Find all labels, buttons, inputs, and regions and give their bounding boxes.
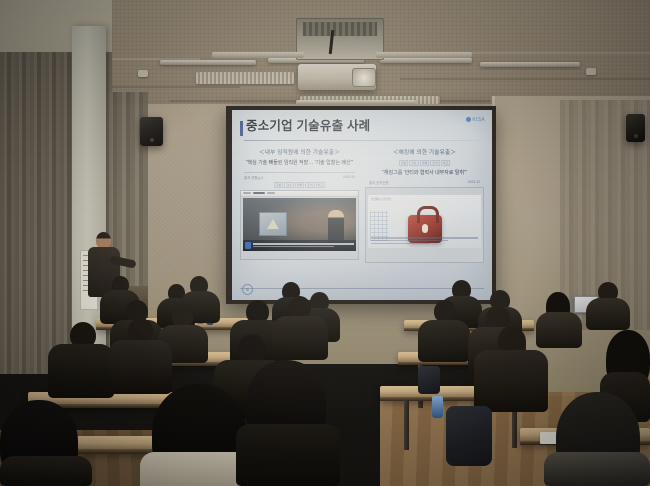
cell: 피해 <box>420 160 430 166</box>
security-lock-graphic: 랜섬웨어 공격 경로 <box>365 187 484 263</box>
logo-text: KISA <box>472 117 485 123</box>
source-label: 출처 전자신문 <box>369 180 389 185</box>
projector-support-arm <box>376 52 472 58</box>
ceiling-seam <box>400 78 650 80</box>
cell: 피해 <box>295 182 305 188</box>
column-quote: "핵심 기술 빼돌린 임직원 적발… '기술 입찰는 배신'" <box>240 158 359 170</box>
footer-divider <box>240 288 484 289</box>
source-label: 출처 연합뉴스 <box>244 175 264 180</box>
projector-lens <box>352 68 376 87</box>
channel-badge <box>245 242 251 249</box>
projection-screen: KISA 중소기업 기술유출 사례 ＜내부 임직원에 의한 기술유출＞ "핵심 … <box>232 110 492 300</box>
slide-title-row: 중소기업 기술유출 사례 <box>240 120 484 136</box>
cell: 비고 <box>316 182 326 188</box>
ceiling-spot-light <box>586 68 596 75</box>
slide-page-number: 6 <box>242 284 253 295</box>
cell: 비고 <box>441 160 451 166</box>
ceiling-air-vent <box>196 72 294 84</box>
lecture-hall-photo: KISA 중소기업 기술유출 사례 ＜내부 임직원에 의한 기술유출＞ "핵심 … <box>0 0 650 486</box>
column-quote: "해킹그룹 '안티와 협력사 내부자료 탈취'" <box>365 168 484 180</box>
presentation-slide: KISA 중소기업 기술유출 사례 ＜내부 임직원에 의한 기술유출＞ "핵심 … <box>232 110 492 300</box>
news-studio-monitor <box>259 212 287 236</box>
ceiling-spot-light <box>138 70 148 77</box>
cell: 건수 <box>409 160 419 166</box>
backpack[interactable] <box>446 406 492 466</box>
column-meta-row: 출처 전자신문 2023.12 <box>365 180 484 185</box>
column-meta-row: 출처 연합뉴스 2023.11 <box>240 175 359 180</box>
right-wall-speaker <box>626 114 645 142</box>
mini-table: 구분 건수 피해 조치 비고 <box>365 160 484 166</box>
graphic-footer-lines <box>371 237 478 245</box>
ceiling-track-light <box>380 58 472 63</box>
organization-logo: KISA <box>466 117 485 123</box>
ceiling-track-light <box>480 62 580 67</box>
ceiling-track-light <box>160 60 256 65</box>
date-label: 2023.12 <box>468 180 480 185</box>
browser-toolbar <box>241 191 358 197</box>
projector-support-arm <box>212 52 304 58</box>
slide-columns: ＜내부 임직원에 의한 기술유출＞ "핵심 기술 빼돌린 임직원 적발… '기술… <box>240 148 484 263</box>
cell: 구분 <box>399 160 409 166</box>
graphic-header: 랜섬웨어 공격 경로 <box>371 197 478 201</box>
column-heading: ＜해킹에 의한 기술유출＞ <box>365 148 484 158</box>
toolbar-chip-active <box>253 192 265 194</box>
news-anchor-figure <box>328 210 344 244</box>
cell: 조치 <box>305 182 315 188</box>
projector-ceiling-mount <box>296 18 384 60</box>
desk-leg <box>404 400 409 450</box>
news-caption-bars <box>253 243 354 247</box>
date-label: 2023.11 <box>343 175 355 180</box>
logo-dot <box>466 117 471 122</box>
backpack[interactable] <box>418 366 440 394</box>
slide-column-internal-leak: ＜내부 임직원에 의한 기술유출＞ "핵심 기술 빼돌린 임직원 적발… '기술… <box>240 148 359 263</box>
title-divider <box>244 140 482 141</box>
circuit-pattern <box>370 211 388 241</box>
water-bottle[interactable] <box>432 396 443 418</box>
slide-column-hacking-leak: ＜해킹에 의한 기술유출＞ 구분 건수 피해 조치 비고 "해킹그룹 '안티와 … <box>365 148 484 263</box>
cell: 조치 <box>430 160 440 166</box>
column-heading: ＜내부 임직원에 의한 기술유출＞ <box>240 148 359 158</box>
cell: 구분 <box>274 182 284 188</box>
ransomware-illustration: 랜섬웨어 공격 경로 <box>368 195 481 248</box>
left-wall-speaker <box>140 117 163 146</box>
graphic-caption: 랜섬웨어 공격 경로 <box>371 197 392 201</box>
toolbar-chip <box>243 192 251 194</box>
toolbar-chip <box>267 192 275 194</box>
mini-table: 구분 건수 피해 조치 비고 <box>240 182 359 188</box>
title-accent-tick <box>240 121 243 136</box>
slide-title: 중소기업 기술유출 사례 <box>246 120 370 133</box>
cell: 건수 <box>284 182 294 188</box>
news-lower-third <box>243 240 356 251</box>
news-video-frame <box>243 198 356 251</box>
column-divider <box>244 172 355 173</box>
news-broadcast-screenshot <box>240 190 359 260</box>
